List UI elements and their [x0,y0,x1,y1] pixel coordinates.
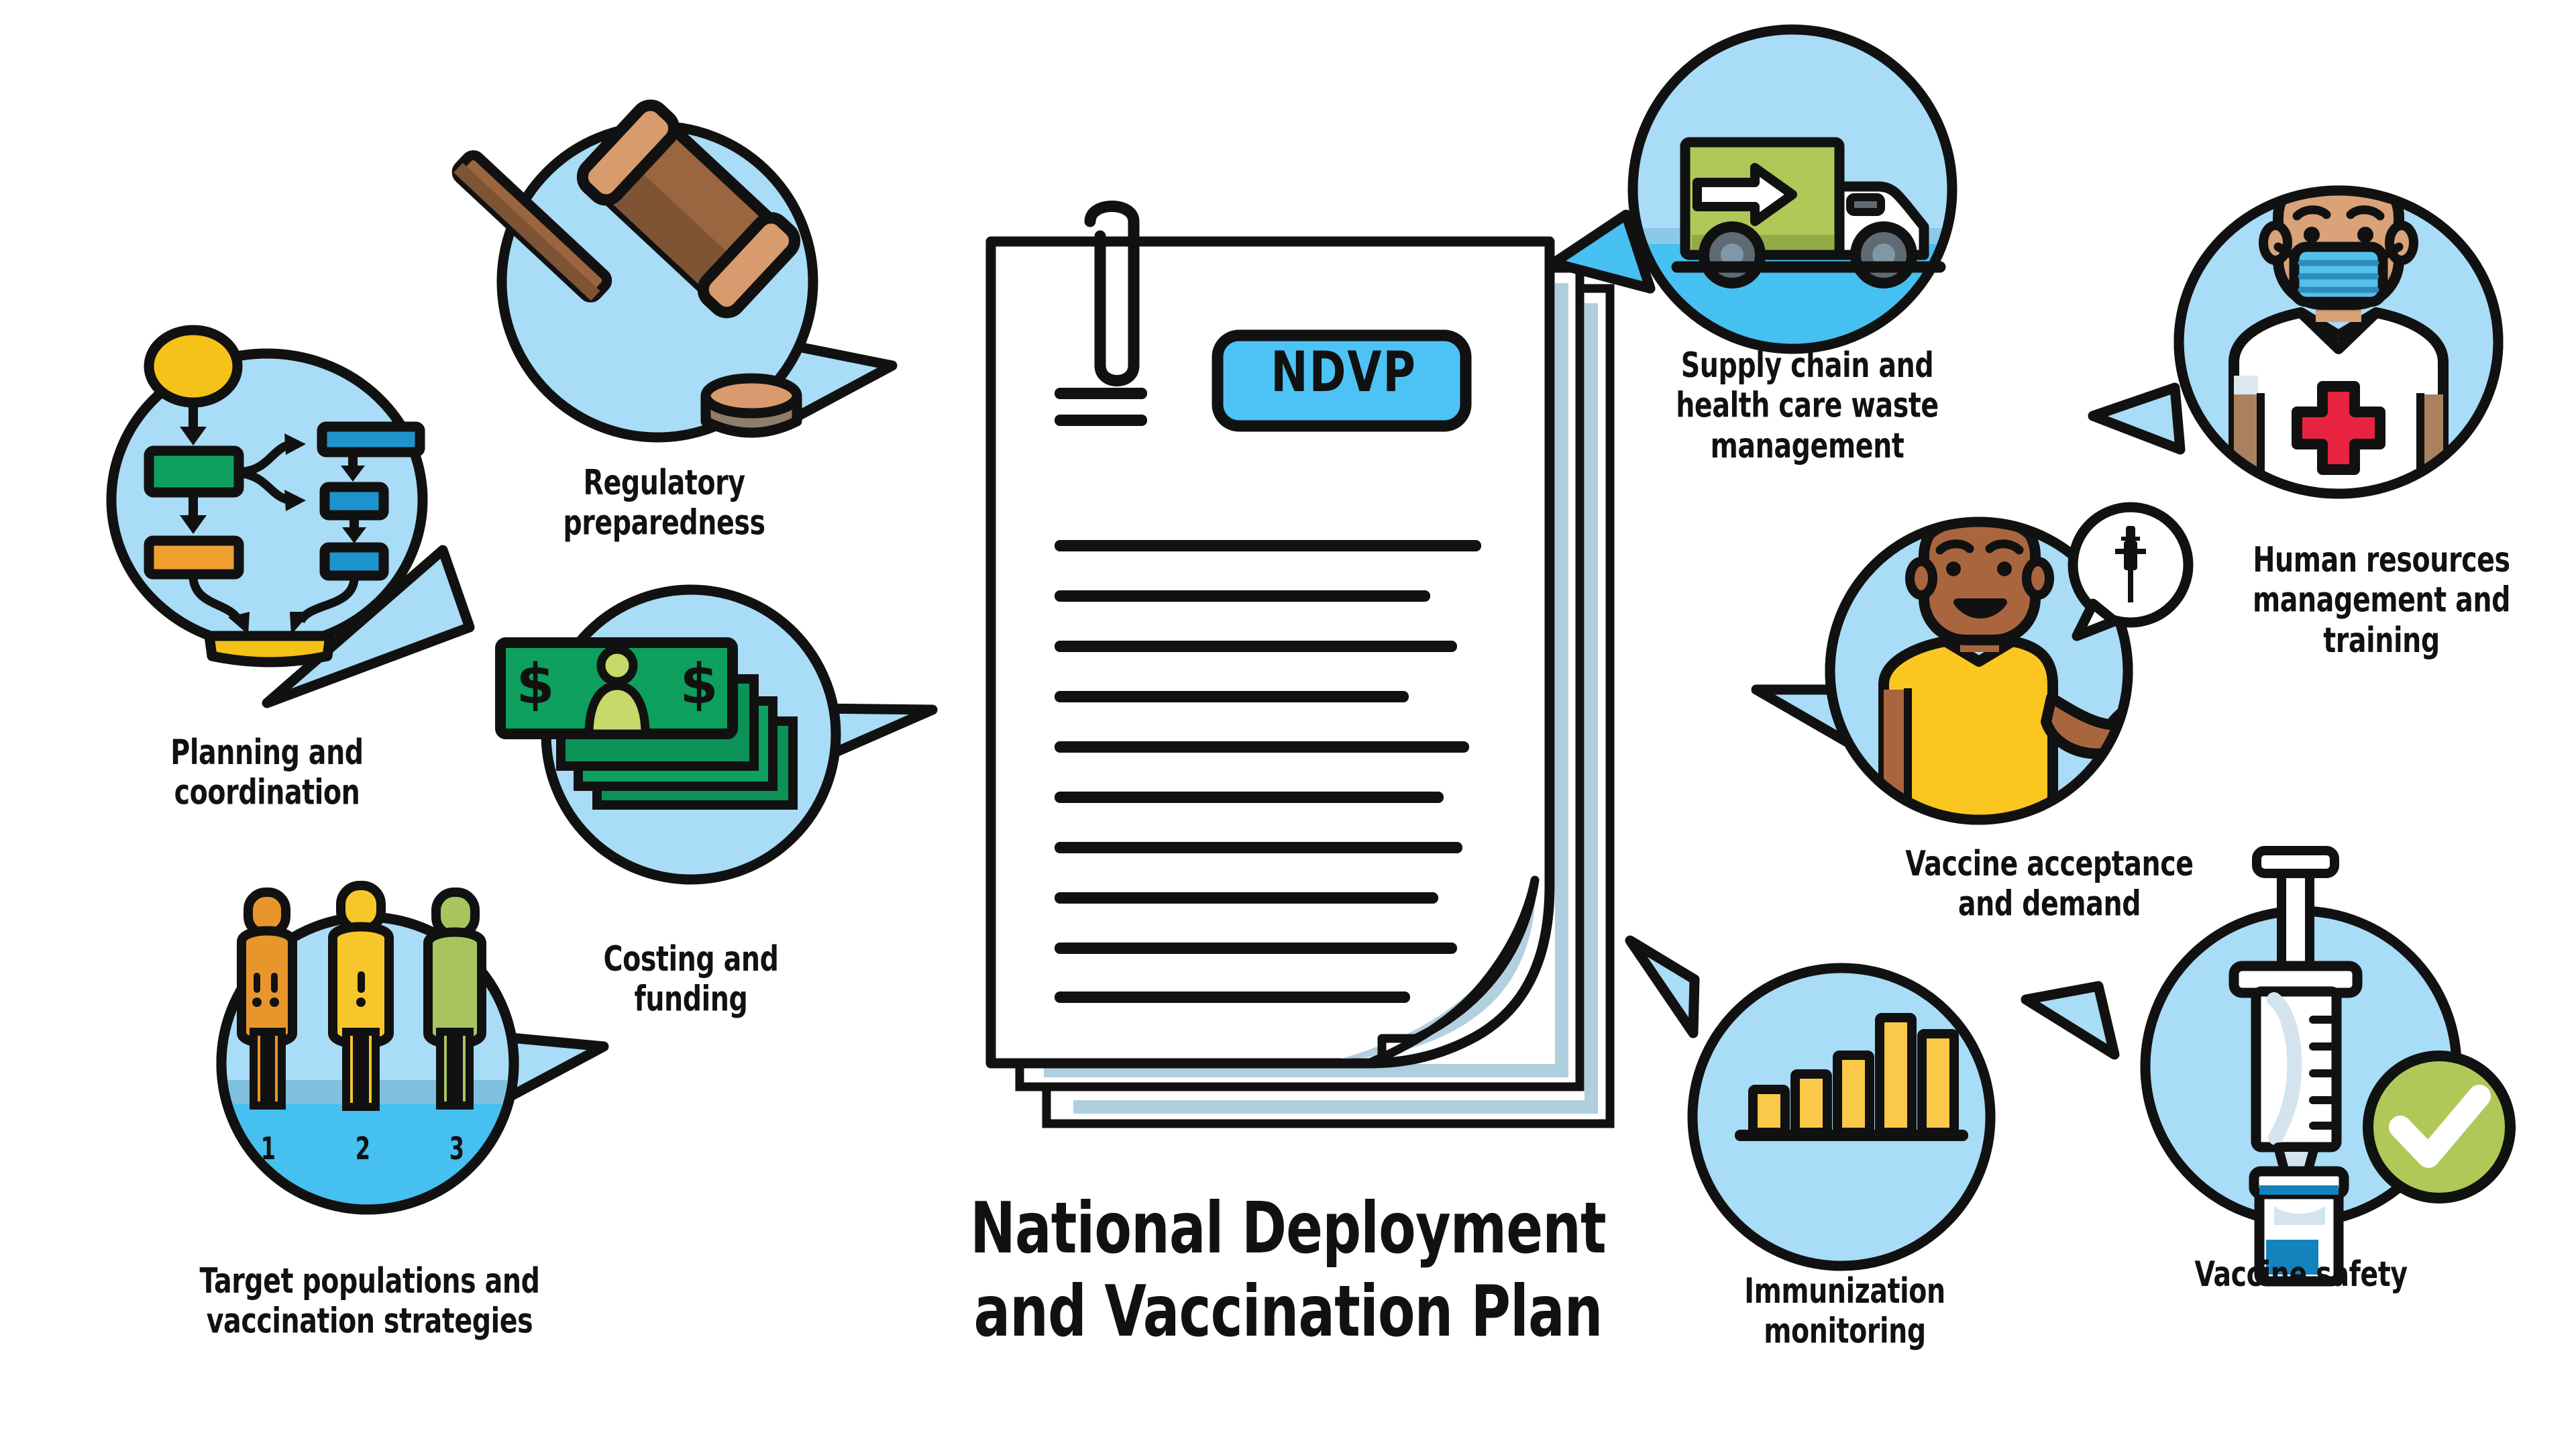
bar-2 [1795,1074,1827,1132]
bubble-immunization-monitoring[interactable] [1630,941,1990,1266]
bubble-tail [2093,388,2180,449]
chart-baseline [1735,1130,1968,1141]
svg-text:$: $ [680,653,718,716]
podium-number-2: 2 [356,1132,370,1167]
bubble-tail [1630,941,1695,1033]
bubble-label-supply-chain: Supply chain and health care waste manag… [1640,345,1975,466]
bubble-label-immunization-monitoring: Immunization monitoring [1701,1271,1989,1352]
bar-4 [1880,1018,1912,1132]
svg-text:$: $ [516,653,554,716]
bar-1 [1753,1089,1785,1132]
bubble-regulatory[interactable] [453,99,892,437]
document-header-rule [1055,388,1147,399]
podium-number-1: 1 [261,1132,276,1167]
document-header-rule [1055,415,1147,426]
podium-number-3: 3 [449,1132,464,1167]
bubble-label-human-resources: Human resources management and training [2214,540,2549,660]
bubble-label-vaccine-safety: Vaccine safety [2163,1254,2440,1295]
bubble-target-populations[interactable] [221,885,604,1218]
bubble-label-regulatory: Regulatory preparedness [520,463,808,543]
three-people-podium-icon [241,885,482,1107]
ndvp-badge-label: NDVP [1245,339,1442,405]
bubble-label-costing: Costing and funding [553,939,830,1020]
bubble-supply-chain[interactable] [1554,30,1959,378]
bubble-label-target-populations: Target populations and vaccination strat… [159,1261,580,1342]
bar-3 [1837,1055,1870,1132]
bubble-tail [2026,986,2114,1055]
bubble-planning[interactable] [111,330,470,703]
bubble-human-resources[interactable] [2093,109,2498,498]
syringe-speech-bubble [2073,507,2188,636]
bubble-label-vaccine-acceptance: Vaccine acceptance and demand [1862,844,2237,924]
page-title: National Deployment and Vaccination Plan [969,1187,1607,1353]
bubble-costing[interactable]: $ $ [500,590,932,879]
bubble-vaccine-acceptance[interactable] [1756,495,2188,826]
bar-5 [1922,1034,1954,1132]
bubble-label-planning: Planning and coordination [123,733,411,813]
